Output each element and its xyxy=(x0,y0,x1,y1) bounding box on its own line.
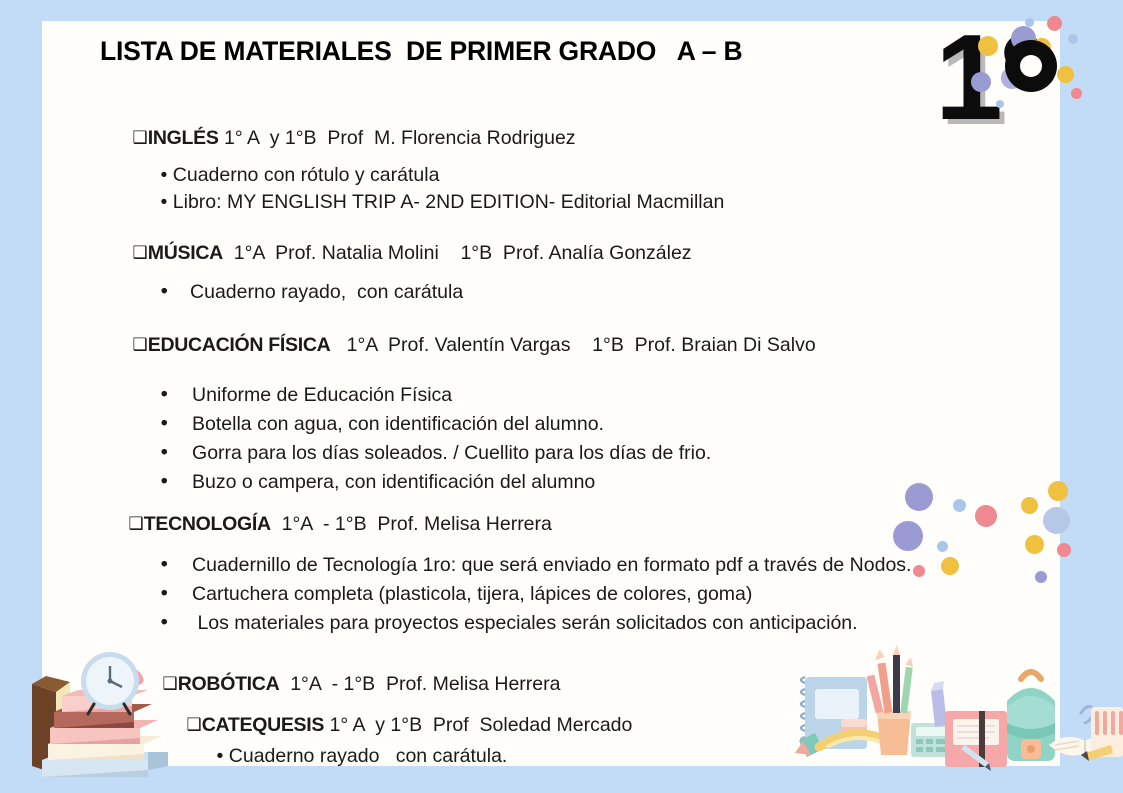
confetti-dot xyxy=(953,499,966,512)
subject-label: EDUCACIÓN FÍSICA xyxy=(148,334,331,356)
school-supplies-illustration xyxy=(793,595,1123,775)
confetti-dot xyxy=(941,557,959,575)
grade-badge-group: 1° xyxy=(935,14,1085,154)
list-item-text: • Cuaderno rayado con carátula. xyxy=(217,745,508,767)
confetti-dot xyxy=(937,541,948,552)
list-item-text: Los materiales para proyectos especiales… xyxy=(192,612,858,634)
degree-ring-icon xyxy=(935,14,1085,154)
books-and-clock-illustration xyxy=(22,648,187,783)
list-item-text: Cuaderno rayado, con carátula xyxy=(190,281,463,303)
confetti-dot xyxy=(913,565,925,577)
confetti-dot xyxy=(1021,497,1038,514)
confetti-dot xyxy=(893,521,923,551)
bullet-icon: • xyxy=(159,611,171,634)
list-item-text: • Libro: MY ENGLISH TRIP A- 2ND EDITION-… xyxy=(161,191,725,213)
slide-canvas: 1° xyxy=(0,0,1123,793)
confetti-dot xyxy=(1048,481,1068,501)
checkbox-icon: ❑ xyxy=(133,335,148,355)
page-title: LISTA DE MATERIALES DE PRIMER GRADO A – … xyxy=(100,36,742,67)
list-item: • Cuaderno rayado con carátula. xyxy=(184,722,507,791)
confetti-dot xyxy=(905,483,933,511)
teachers-label: 1°A Prof. Valentín Vargas 1°B Prof. Brai… xyxy=(330,334,815,356)
confetti-dot xyxy=(975,505,997,527)
confetti-dot xyxy=(1043,507,1070,534)
list-item: • Los materiales para proyectos especial… xyxy=(126,588,858,658)
confetti-dot xyxy=(1025,535,1044,554)
bullet-icon: • xyxy=(159,280,171,303)
confetti-dot xyxy=(1057,543,1071,557)
confetti-dot xyxy=(1035,571,1047,583)
